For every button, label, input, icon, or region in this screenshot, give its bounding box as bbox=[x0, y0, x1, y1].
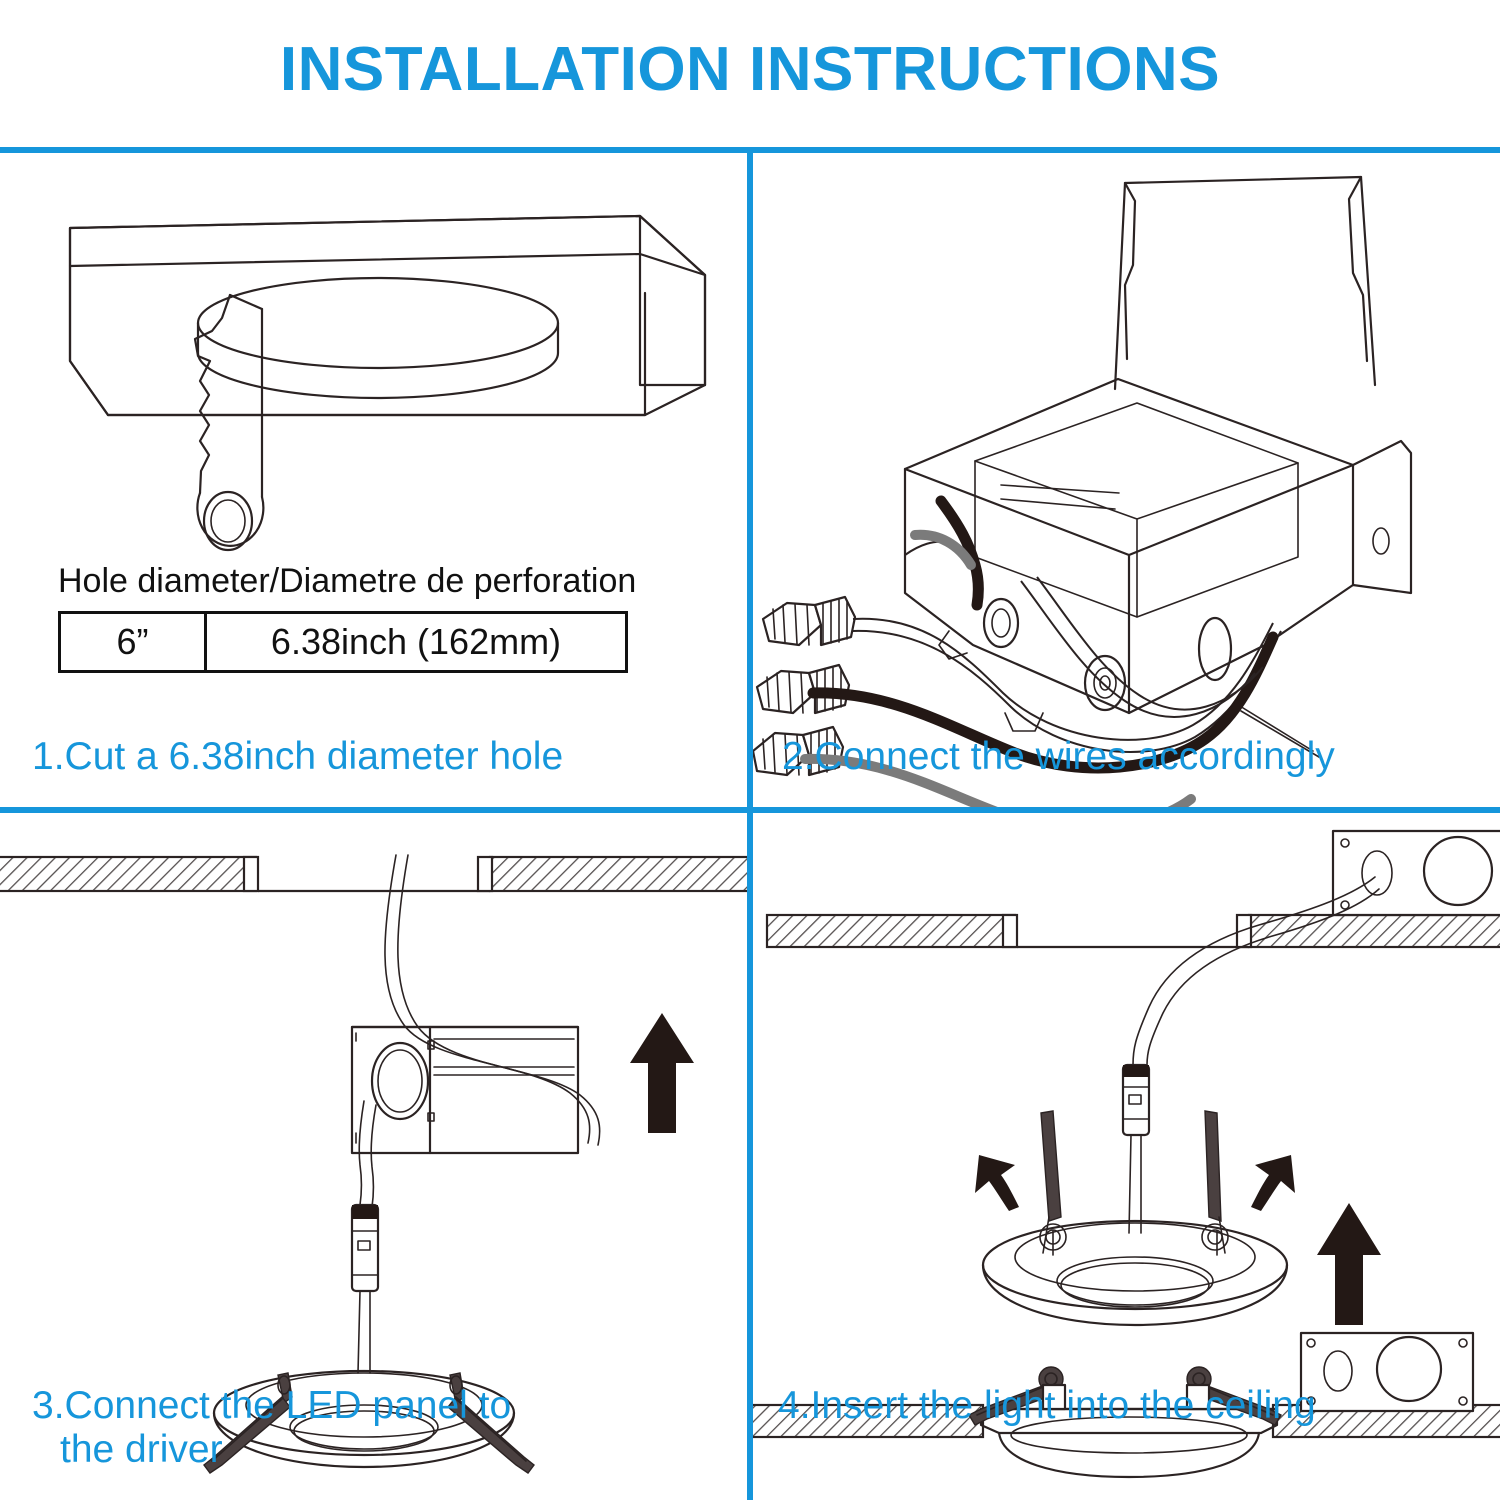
spring-rotation-arrows-icon bbox=[975, 1155, 1295, 1211]
step-2-illustration bbox=[753, 153, 1500, 807]
driver-box-lower-icon bbox=[1301, 1333, 1473, 1411]
step-3-caption-line1: 3.Connect the LED panel to bbox=[32, 1384, 511, 1427]
driver-box-icon bbox=[352, 1027, 578, 1153]
step-1-panel bbox=[0, 153, 747, 807]
hole-diameter-label: Hole diameter/Diametre de perforation bbox=[58, 562, 636, 601]
up-arrow-icon bbox=[630, 1013, 694, 1133]
led-light-upper-icon bbox=[983, 1111, 1287, 1325]
installation-instructions-sheet: INSTALLATION INSTRUCTIONS bbox=[0, 0, 1500, 1500]
cut-hole-ellipse-icon bbox=[198, 278, 558, 398]
table-row: 6” 6.38inch (162mm) bbox=[60, 613, 627, 672]
step-3-caption: 3.Connect the LED panel to the driver bbox=[32, 1384, 511, 1471]
driver-box-upper-icon bbox=[1333, 831, 1500, 915]
ceiling-slab-icon bbox=[70, 216, 705, 415]
step-1-illustration bbox=[0, 153, 747, 807]
step-2-caption: 2.Connect the wires accordingly bbox=[782, 735, 1335, 779]
junction-box-icon bbox=[905, 177, 1411, 731]
hole-size-cell: 6” bbox=[60, 613, 206, 672]
hole-diameter-table: 6” 6.38inch (162mm) bbox=[58, 611, 628, 673]
hole-diameter-spec: Hole diameter/Diametre de perforation 6”… bbox=[58, 562, 636, 673]
wire-nut-1 bbox=[763, 597, 855, 645]
ceiling-section-icon bbox=[0, 857, 747, 891]
hole-value-cell: 6.38inch (162mm) bbox=[206, 613, 627, 672]
page-title: INSTALLATION INSTRUCTIONS bbox=[0, 34, 1500, 105]
step-3-caption-line2: the driver bbox=[60, 1428, 511, 1472]
up-arrow-upper-icon bbox=[1317, 1203, 1381, 1325]
ceiling-section-upper-icon bbox=[767, 915, 1500, 947]
keyhole-saw-icon bbox=[195, 295, 263, 550]
step-2-panel bbox=[753, 153, 1500, 807]
step-4-caption: 4.Insert the light into the ceiling bbox=[778, 1384, 1316, 1428]
step-1-caption: 1.Cut a 6.38inch diameter hole bbox=[32, 735, 563, 779]
